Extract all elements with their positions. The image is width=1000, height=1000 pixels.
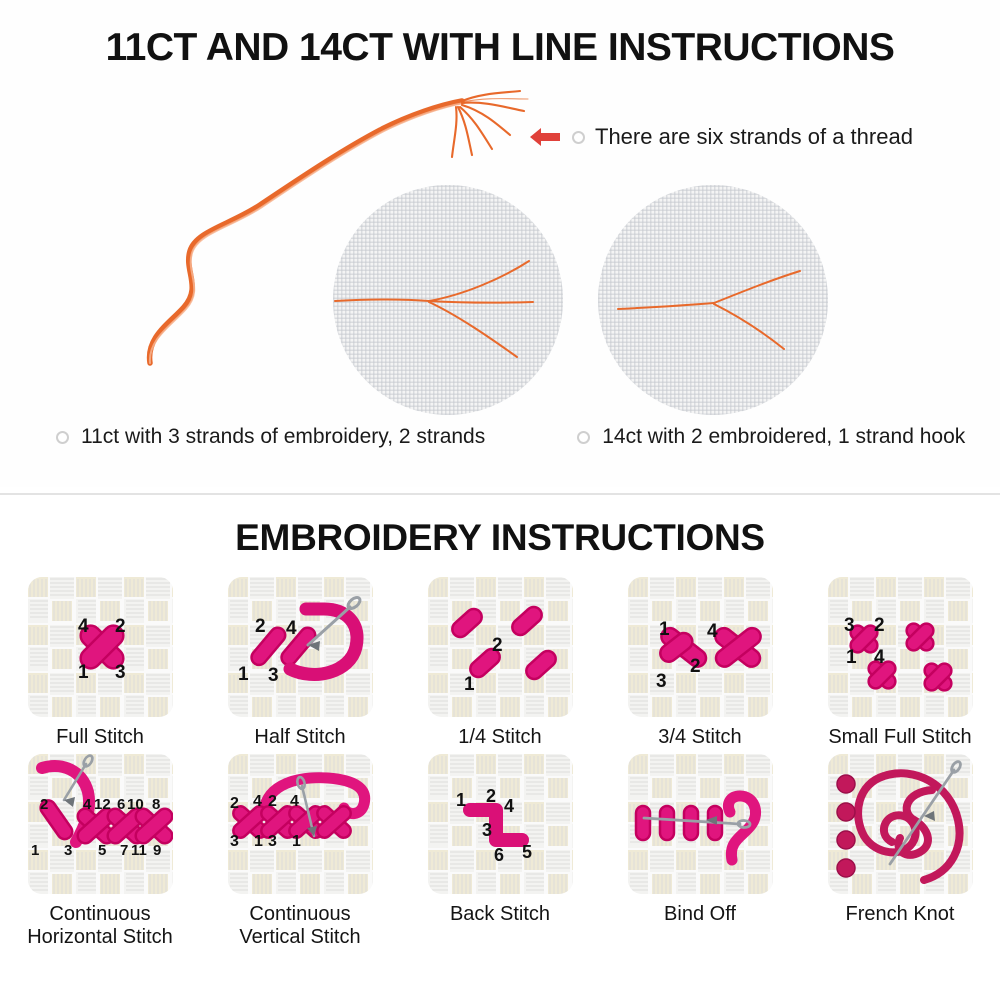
stitch-number: 12	[94, 796, 111, 813]
stitch-number: 4	[253, 793, 262, 810]
stitch-number: 4	[83, 796, 92, 813]
stitch-number: 2	[115, 616, 126, 637]
stitch-cell-bind-off: Bind Off	[600, 754, 800, 948]
stitch-number: 8	[152, 796, 160, 813]
stitch-number: 1	[78, 662, 89, 683]
stitch-diagram-quarter-stitch: 2 1	[428, 577, 573, 717]
stitch-number: 4	[286, 618, 297, 639]
stitch-grid: 4 2 1 3 Full Stitch	[0, 577, 1000, 948]
circle-bullet-icon	[572, 131, 585, 144]
stitch-number: 2	[690, 656, 701, 677]
arrow-left-icon	[528, 126, 562, 148]
stitch-cell-small-full-stitch: 3 2 1 4 Small Full Stitch	[800, 577, 1000, 748]
instruction-sheet: 11CT AND 14CT WITH LINE INSTRUCTIONS	[0, 0, 1000, 1000]
stitch-diagram-french-knot	[828, 754, 973, 894]
stitch-number: 5	[98, 842, 106, 859]
stitch-label-french-knot: French Knot	[846, 903, 955, 925]
caption-14ct-text: 14ct with 2 embroidered, 1 strand hook	[602, 425, 965, 449]
stitch-label-small-full-stitch: Small Full Stitch	[828, 726, 971, 748]
section-embroidery-instructions: EMBROIDERY INSTRUCTIONS	[0, 495, 1000, 1000]
callout-text: There are six strands of a thread	[595, 124, 913, 150]
stitch-number: 2	[40, 796, 48, 813]
fabric-captions: 11ct with 3 strands of embroidery, 2 str…	[0, 425, 1000, 449]
stitch-number: 7	[120, 842, 128, 859]
stitch-diagram-half-stitch: 2 4 1 3	[228, 577, 373, 717]
callout-six-strands: There are six strands of a thread	[528, 124, 913, 150]
stitch-number: 11	[131, 842, 147, 859]
stitch-number: 10	[127, 796, 144, 813]
caption-11ct-text: 11ct with 3 strands of embroidery, 2 str…	[81, 425, 485, 449]
stitch-number: 6	[494, 845, 504, 865]
caption-11ct: 11ct with 3 strands of embroidery, 2 str…	[56, 425, 485, 449]
stitch-number: 2	[486, 786, 496, 806]
stitch-cell-continuous-vertical-stitch: 2 4 2 4 3 1 3 1 ContinuousVertical Stitc…	[200, 754, 400, 948]
stitch-number: 3	[230, 833, 239, 850]
stitch-label-continuous-vertical-stitch: ContinuousVertical Stitch	[239, 903, 360, 948]
stitch-number: 2	[874, 615, 885, 636]
stitch-number: 1	[464, 674, 475, 695]
stitch-label-bind-off: Bind Off	[664, 903, 736, 925]
stitch-label-continuous-horizontal-stitch: ContinuousHorizontal Stitch	[27, 903, 173, 948]
stitch-label-full-stitch: Full Stitch	[56, 726, 144, 748]
stitch-cell-quarter-stitch: 2 1 1/4 Stitch	[400, 577, 600, 748]
stitch-cell-three-quarter-stitch: 1 4 2 3 3/4 Stitch	[600, 577, 800, 748]
stitch-number: 1	[292, 833, 301, 850]
stitch-number: 5	[522, 842, 532, 862]
stitch-number: 2	[492, 635, 503, 656]
stitch-cell-continuous-horizontal-stitch: 2 4 12 6 10 8 1 3 5 7 11 9	[0, 754, 200, 948]
stitch-number: 4	[707, 621, 718, 642]
stitch-diagram-continuous-vertical-stitch: 2 4 2 4 3 1 3 1	[228, 754, 373, 894]
stitch-diagram-full-stitch: 4 2 1 3	[28, 577, 173, 717]
stitch-diagram-small-full-stitch: 3 2 1 4	[828, 577, 973, 717]
stitch-number: 3	[64, 842, 72, 859]
stitch-number: 2	[255, 616, 266, 637]
stitch-number: 4	[290, 793, 299, 810]
stitch-number: 1	[31, 842, 39, 859]
stitch-diagram-bind-off	[628, 754, 773, 894]
stitch-number: 1	[254, 833, 263, 850]
stitch-cell-full-stitch: 4 2 1 3 Full Stitch	[0, 577, 200, 748]
caption-14ct: 14ct with 2 embroidered, 1 strand hook	[577, 425, 965, 449]
stitch-number: 1	[846, 647, 857, 668]
stitch-number: 3	[482, 820, 492, 840]
stitch-label-back-stitch: Back Stitch	[450, 903, 550, 925]
stitch-number: 4	[78, 616, 89, 637]
stitch-number: 2	[268, 793, 277, 810]
embroidery-title: EMBROIDERY INSTRUCTIONS	[0, 517, 1000, 559]
circle-bullet-icon	[577, 431, 590, 444]
stitch-diagram-back-stitch: 1 2 4 3 6 5	[428, 754, 573, 894]
stitch-label-half-stitch: Half Stitch	[254, 726, 345, 748]
fabric-swatch-14ct	[598, 185, 828, 415]
stitch-number: 1	[238, 664, 249, 685]
stitch-number: 3	[656, 671, 667, 692]
stitch-diagram-three-quarter-stitch: 1 4 2 3	[628, 577, 773, 717]
stitch-number: 3	[268, 665, 279, 686]
stitch-number: 3	[268, 833, 277, 850]
page-title: 11CT AND 14CT WITH LINE INSTRUCTIONS	[0, 26, 1000, 70]
stitch-label-three-quarter-stitch: 3/4 Stitch	[658, 726, 741, 748]
stitch-number: 9	[153, 842, 161, 859]
stitch-number: 2	[230, 795, 239, 812]
fabric-swatch-11ct	[333, 185, 563, 415]
stitch-number: 6	[117, 796, 125, 813]
stitch-diagram-continuous-horizontal-stitch: 2 4 12 6 10 8 1 3 5 7 11 9	[28, 754, 173, 894]
stitch-number: 4	[874, 647, 885, 668]
section-ct-line-instructions: 11CT AND 14CT WITH LINE INSTRUCTIONS	[0, 0, 1000, 487]
circle-bullet-icon	[56, 431, 69, 444]
stitch-cell-half-stitch: 2 4 1 3 Half Stitch	[200, 577, 400, 748]
stitch-cell-french-knot: French Knot	[800, 754, 1000, 948]
stitch-number: 3	[115, 662, 126, 683]
stitch-cell-back-stitch: 1 2 4 3 6 5 Back Stitch	[400, 754, 600, 948]
stitch-number: 1	[659, 619, 670, 640]
stitch-label-quarter-stitch: 1/4 Stitch	[458, 726, 541, 748]
stitch-number: 4	[504, 796, 514, 816]
stitch-number: 1	[456, 790, 466, 810]
stitch-number: 3	[844, 615, 855, 636]
